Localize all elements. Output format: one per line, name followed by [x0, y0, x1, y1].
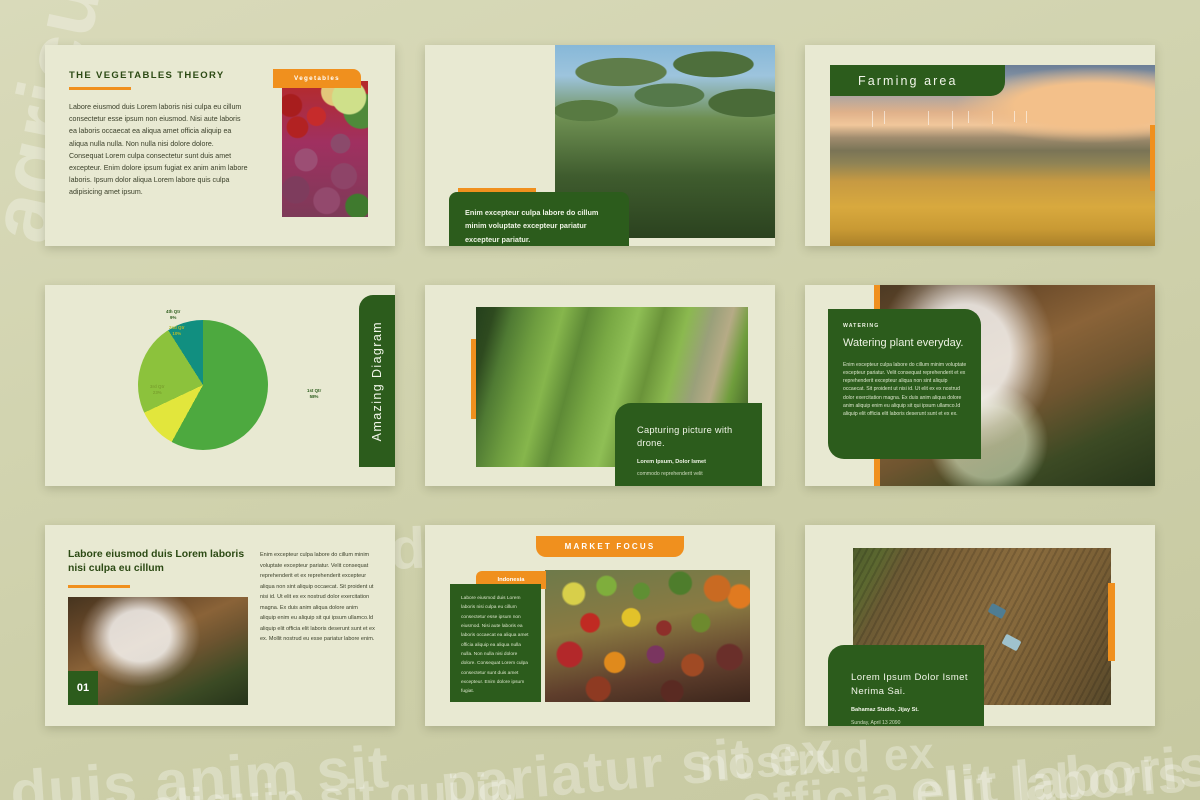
card-date: Sunday, April 13 2090	[851, 720, 984, 726]
slide-title: Farming area	[858, 74, 958, 88]
slide-title: THE VEGETABLES THEORY	[69, 70, 225, 81]
vegetables-tab-label[interactable]: Vegetables	[273, 69, 361, 88]
card-body: Enim excepteur culpa labore do cillum mi…	[843, 361, 967, 419]
accent-rule	[69, 87, 131, 90]
slide-capturing-drone[interactable]: Capturing picture with drone. Lorem Ipsu…	[425, 285, 775, 486]
side-tab-label: Amazing Diagram	[370, 321, 384, 441]
wind-turbine-icon	[1014, 111, 1015, 122]
wind-turbine-icon	[884, 111, 885, 124]
card-caption: commodo reprehenderit velit	[637, 471, 762, 477]
pie-label-4th-qtr: 4th Qtr 9%	[166, 309, 180, 321]
watering-text-card: WATERING Watering plant everyday. Enim e…	[828, 309, 981, 459]
orange-accent-bar	[1150, 125, 1155, 191]
pie-chart: 1st Qtr 58% 4th Qtr 9% 2nd Qtr 10% 3rd Q…	[45, 285, 395, 486]
vegetables-photo	[282, 81, 368, 217]
farming-area-title-banner: Farming area	[830, 65, 1005, 96]
wind-turbine-icon	[928, 111, 929, 125]
wind-turbine-icon	[952, 111, 953, 129]
tractor-icon	[988, 603, 1007, 619]
card-subtitle: Bahamaz Studio, Jijay St.	[851, 707, 984, 713]
wind-turbine-icon	[968, 111, 969, 123]
slide-watering-plant[interactable]: WATERING Watering plant everyday. Enim e…	[805, 285, 1155, 486]
card-heading: Watering plant everyday.	[843, 336, 967, 351]
tractor-icon	[1001, 634, 1021, 652]
pie-label-1st-qtr: 1st Qtr 58%	[307, 388, 321, 400]
slide-title: Labore eiusmod duis Lorem laboris nisi c…	[68, 548, 258, 575]
card-heading: Capturing picture with drone.	[637, 424, 762, 450]
wind-turbine-icon	[992, 111, 993, 124]
card-kicker: WATERING	[843, 323, 967, 329]
card-subtitle: Lorem Ipsum, Dolor Ismet	[637, 459, 762, 465]
slide-deck: THE VEGETABLES THEORY Labore eiusmod dui…	[0, 0, 1200, 800]
closing-card: Lorem Ipsum Dolor Ismet Nerima Sai. Baha…	[828, 645, 984, 726]
market-focus-tab-label[interactable]: MARKET FOCUS	[536, 536, 684, 557]
slide-vegetables-theory[interactable]: THE VEGETABLES THEORY Labore eiusmod dui…	[45, 45, 395, 246]
slide-closing[interactable]: Lorem Ipsum Dolor Ismet Nerima Sai. Baha…	[805, 525, 1155, 726]
slide-amazing-diagram[interactable]: 1st Qtr 58% 4th Qtr 9% 2nd Qtr 10% 3rd Q…	[45, 285, 395, 486]
drone-caption-card: Capturing picture with drone. Lorem Ipsu…	[615, 403, 762, 486]
number-badge: 01	[68, 671, 98, 705]
amazing-diagram-side-tab[interactable]: Amazing Diagram	[359, 295, 395, 467]
slide-body-text: Labore eiusmod duis Lorem laboris nisi c…	[69, 101, 249, 199]
card-heading: Lorem Ipsum Dolor Ismet Nerima Sai.	[851, 671, 984, 698]
slide-body-text: Enim excepteur culpa labore do cillum mi…	[260, 550, 375, 645]
market-produce-photo	[545, 570, 750, 702]
pie-label-2nd-qtr: 2nd Qtr 10%	[169, 325, 185, 337]
green-caption-card: Enim excepteur culpa labore do cillum mi…	[449, 192, 629, 246]
wind-turbine-icon	[872, 111, 873, 127]
pie-label-3rd-qtr: 3rd Qtr 23%	[150, 384, 165, 396]
slide-farming-area[interactable]: Farming area	[805, 45, 1155, 246]
market-text-card: Labore eiusmod duis Lorem laboris nisi c…	[450, 584, 541, 702]
slide-numbered-watering[interactable]: Labore eiusmod duis Lorem laboris nisi c…	[45, 525, 395, 726]
slide-market-focus[interactable]: MARKET FOCUS Indonesia Labore eiusmod du…	[425, 525, 775, 726]
orange-accent-bar	[471, 339, 476, 419]
slide-palm-trees[interactable]: Enim excepteur culpa labore do cillum mi…	[425, 45, 775, 246]
accent-rule	[68, 585, 130, 588]
wind-turbine-icon	[1026, 111, 1027, 123]
orange-accent-bar	[1108, 583, 1115, 661]
